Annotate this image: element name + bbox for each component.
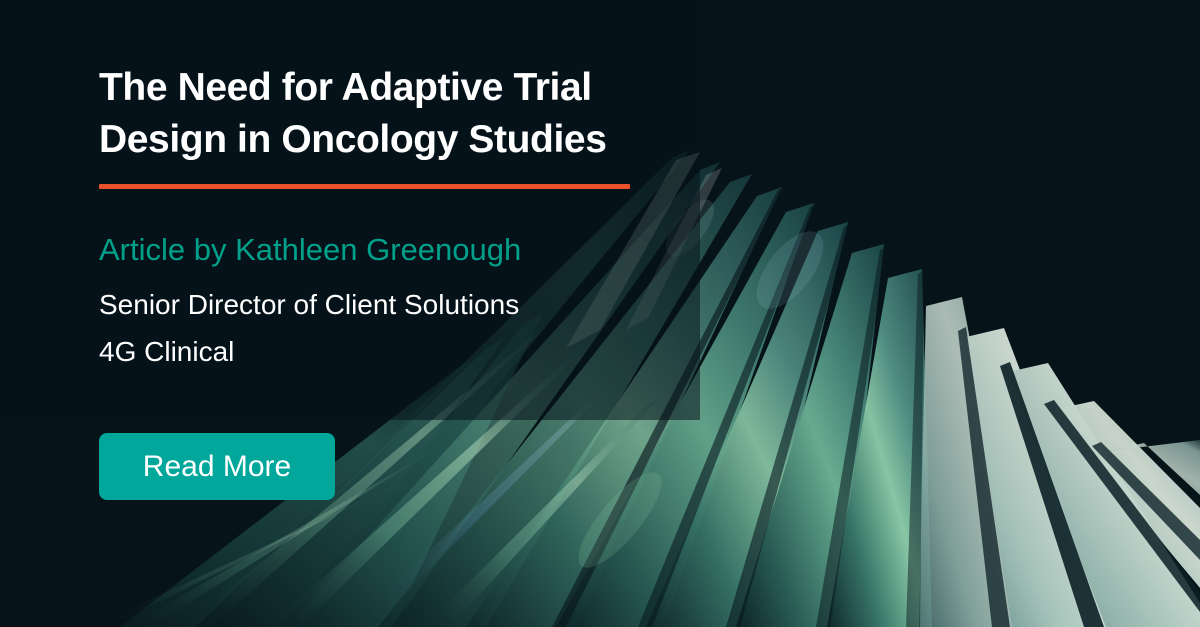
read-more-button[interactable]: Read More [99, 433, 335, 500]
author-byline: Article by Kathleen Greenough [99, 230, 521, 270]
author-role: Senior Director of Client Solutions [99, 281, 519, 328]
author-company: 4G Clinical [99, 328, 519, 375]
author-credentials: Senior Director of Client Solutions 4G C… [99, 281, 519, 375]
page-title: The Need for Adaptive Trial Design in On… [99, 62, 719, 166]
orange-divider-rule [99, 184, 630, 189]
banner-content: The Need for Adaptive Trial Design in On… [99, 0, 759, 627]
title-line-1: The Need for Adaptive Trial [99, 62, 719, 114]
title-line-2: Design in Oncology Studies [99, 114, 719, 166]
article-promo-banner: The Need for Adaptive Trial Design in On… [0, 0, 1200, 627]
